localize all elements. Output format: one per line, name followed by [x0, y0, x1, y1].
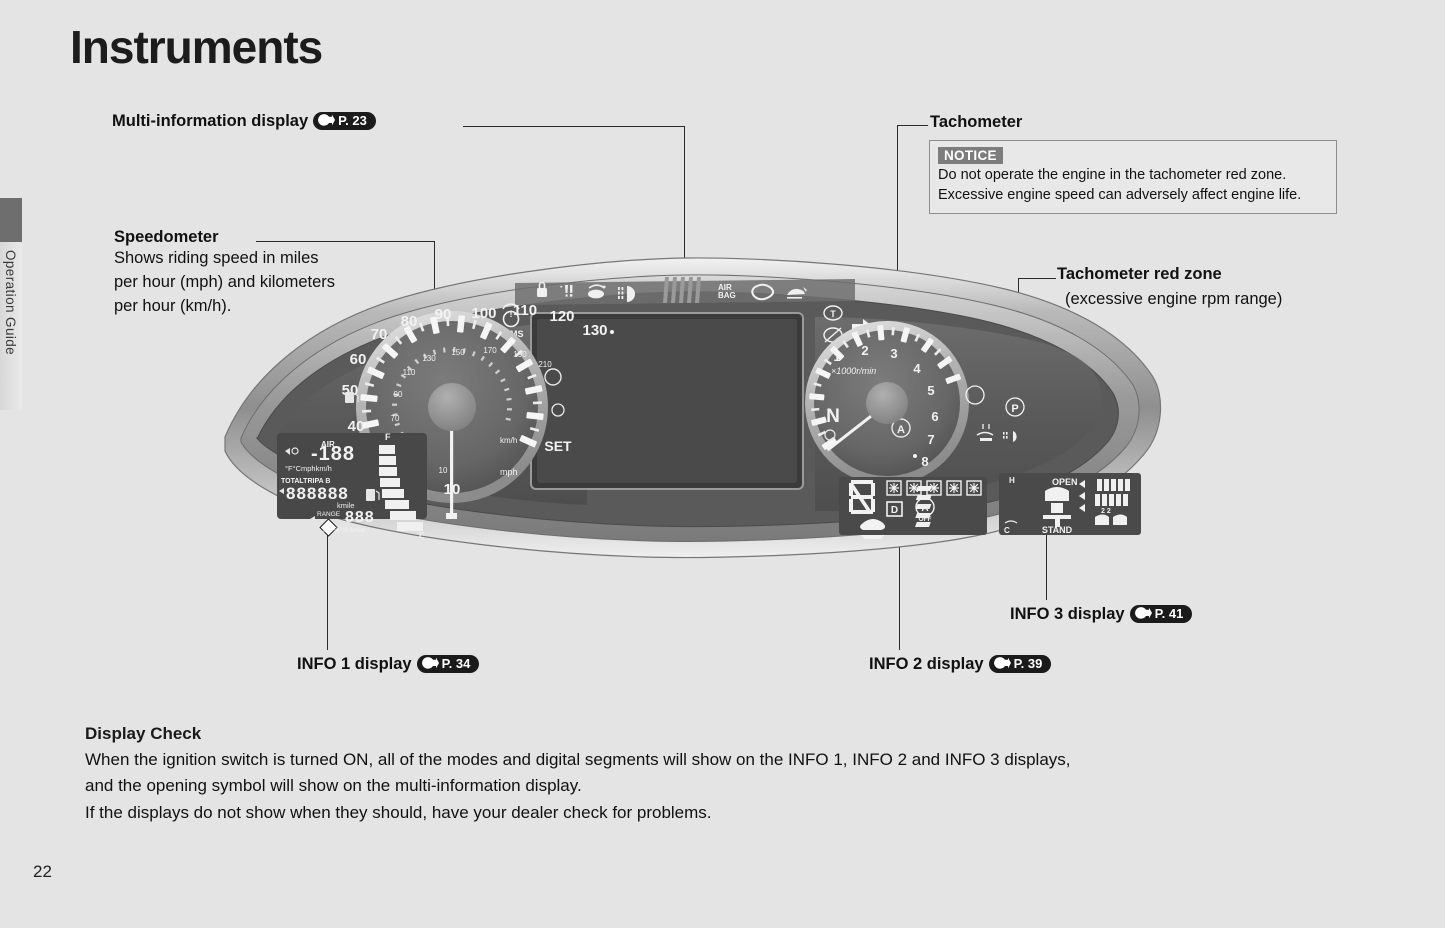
- notice-tag: NOTICE: [938, 147, 1003, 164]
- callout-label: INFO 3 display: [1010, 605, 1125, 623]
- tachometer-gauge: 1 2 3 4 5 6 7 8 ×1000r/min N A: [805, 321, 969, 485]
- sidebar-item-operation-guide: Operation Guide: [0, 250, 22, 462]
- callout-multi-information-display: Multi-information displayP. 23: [112, 112, 376, 131]
- svg-text:120: 120: [549, 308, 574, 325]
- callout-info-1-display: INFO 1 displayP. 34: [297, 655, 479, 674]
- speedometer-unit-kmh: km/h: [500, 436, 517, 445]
- page-ref-text: P. 34: [442, 656, 471, 671]
- svg-text:80: 80: [401, 313, 418, 330]
- callout-label: Multi-information display: [112, 112, 308, 130]
- notice-line-2: Excessive engine speed can adversely aff…: [938, 185, 1328, 205]
- callout-tachometer: Tachometer: [930, 113, 1022, 132]
- info1-fuel-empty-label: E: [419, 531, 425, 540]
- info3-temp-cold-label: C: [1004, 526, 1010, 535]
- display-check-line-1: When the ignition switch is turned ON, a…: [85, 747, 1355, 773]
- callout-label: Tachometer: [930, 113, 1022, 131]
- mode-segment-boxes: [887, 481, 981, 495]
- svg-text:3: 3: [890, 346, 897, 361]
- page-ref-badge-mid[interactable]: P. 23: [313, 112, 376, 130]
- arrow-right-icon: [318, 114, 335, 126]
- svg-text:60: 60: [350, 351, 367, 368]
- info3-temp-hot-label: H: [1009, 476, 1015, 485]
- svg-text:70: 70: [371, 326, 388, 343]
- svg-text:100: 100: [471, 305, 496, 322]
- svg-text:4: 4: [913, 361, 921, 376]
- display-check-line-3: If the displays do not show when they sh…: [85, 800, 1355, 826]
- arrow-right-icon: [994, 657, 1011, 669]
- info1-range-label: RANGE: [317, 511, 341, 518]
- speedometer-unit-mph: mph: [500, 467, 518, 477]
- page-title: Instruments: [70, 20, 322, 74]
- svg-text:110: 110: [513, 302, 537, 319]
- info2-drive-mode: D: [891, 505, 898, 516]
- info3-open-label: OPEN: [1052, 477, 1078, 487]
- callout-label: INFO 2 display: [869, 655, 984, 673]
- leader-line-mid-h: [463, 126, 685, 127]
- svg-text:40: 40: [348, 418, 365, 435]
- info-2-display: D A OFF: [839, 477, 987, 539]
- svg-text:7: 7: [927, 432, 934, 447]
- callout-label: Speedometer: [114, 228, 414, 247]
- svg-text:2: 2: [861, 343, 868, 358]
- instrument-cluster-illustration: AIR BAG ! TPMS T: [215, 255, 1165, 560]
- page-ref-badge-info1[interactable]: P. 34: [417, 655, 480, 673]
- info1-fuel-full-label: F: [385, 432, 391, 442]
- svg-text:2 2: 2 2: [1101, 508, 1111, 515]
- info1-range-value: 888: [345, 509, 375, 526]
- leader-line-speedometer-h: [256, 241, 434, 242]
- page-ref-text: P. 23: [338, 113, 367, 128]
- info3-stand-label: STAND: [1042, 525, 1073, 535]
- speedometer-set-label: SET: [544, 438, 572, 454]
- svg-text:170: 170: [483, 346, 497, 355]
- callout-label: INFO 1 display: [297, 655, 412, 673]
- notice-line-1: Do not operate the engine in the tachome…: [938, 165, 1328, 185]
- page-ref-badge-info3[interactable]: P. 41: [1130, 605, 1193, 623]
- arrow-right-icon: [1135, 607, 1152, 619]
- svg-text:130: 130: [422, 354, 436, 363]
- info1-range-units: KP/SP/S kmile: [323, 527, 366, 534]
- callout-info-2-display: INFO 2 displayP. 39: [869, 655, 1051, 674]
- svg-text:90: 90: [394, 390, 403, 399]
- sidebar-color-swatch: [0, 198, 22, 242]
- callout-info-3-display: INFO 3 displayP. 41: [1010, 605, 1192, 624]
- page-ref-text: P. 41: [1155, 606, 1184, 621]
- svg-text:70: 70: [391, 414, 400, 423]
- page-ref-badge-info2[interactable]: P. 39: [989, 655, 1052, 673]
- svg-text:130: 130: [582, 322, 607, 339]
- svg-text:150: 150: [451, 348, 465, 357]
- neutral-indicator-label: N: [826, 406, 840, 427]
- page-number: 22: [33, 862, 52, 882]
- svg-text:A: A: [897, 424, 905, 436]
- svg-text:10: 10: [439, 466, 448, 475]
- svg-text:5: 5: [927, 383, 934, 398]
- info1-air-units: °F°Cmphkm/h: [285, 464, 332, 473]
- svg-text:210: 210: [538, 360, 552, 369]
- info1-air-value: -188: [311, 443, 355, 465]
- page-ref-text: P. 39: [1014, 656, 1043, 671]
- svg-text:T: T: [830, 309, 836, 319]
- arrow-right-icon: [422, 657, 439, 669]
- svg-text:190: 190: [513, 350, 527, 359]
- leader-line-tach-h: [897, 125, 928, 126]
- svg-text:8: 8: [921, 454, 928, 469]
- svg-text:1: 1: [833, 349, 840, 364]
- display-check-heading: Display Check: [85, 724, 1355, 744]
- notice-box: NOTICE Do not operate the engine in the …: [929, 140, 1337, 214]
- display-check-line-2: and the opening symbol will show on the …: [85, 773, 1355, 799]
- svg-text:P: P: [1011, 403, 1018, 415]
- tachometer-unit-label: ×1000r/min: [831, 366, 876, 376]
- svg-text:BAG: BAG: [718, 291, 736, 300]
- display-check-section: Display Check When the ignition switch i…: [85, 724, 1355, 826]
- sidebar-section-tab[interactable]: Operation Guide: [0, 198, 22, 410]
- svg-text:110: 110: [403, 368, 416, 377]
- svg-text:6: 6: [931, 409, 938, 424]
- svg-text:90: 90: [435, 306, 452, 323]
